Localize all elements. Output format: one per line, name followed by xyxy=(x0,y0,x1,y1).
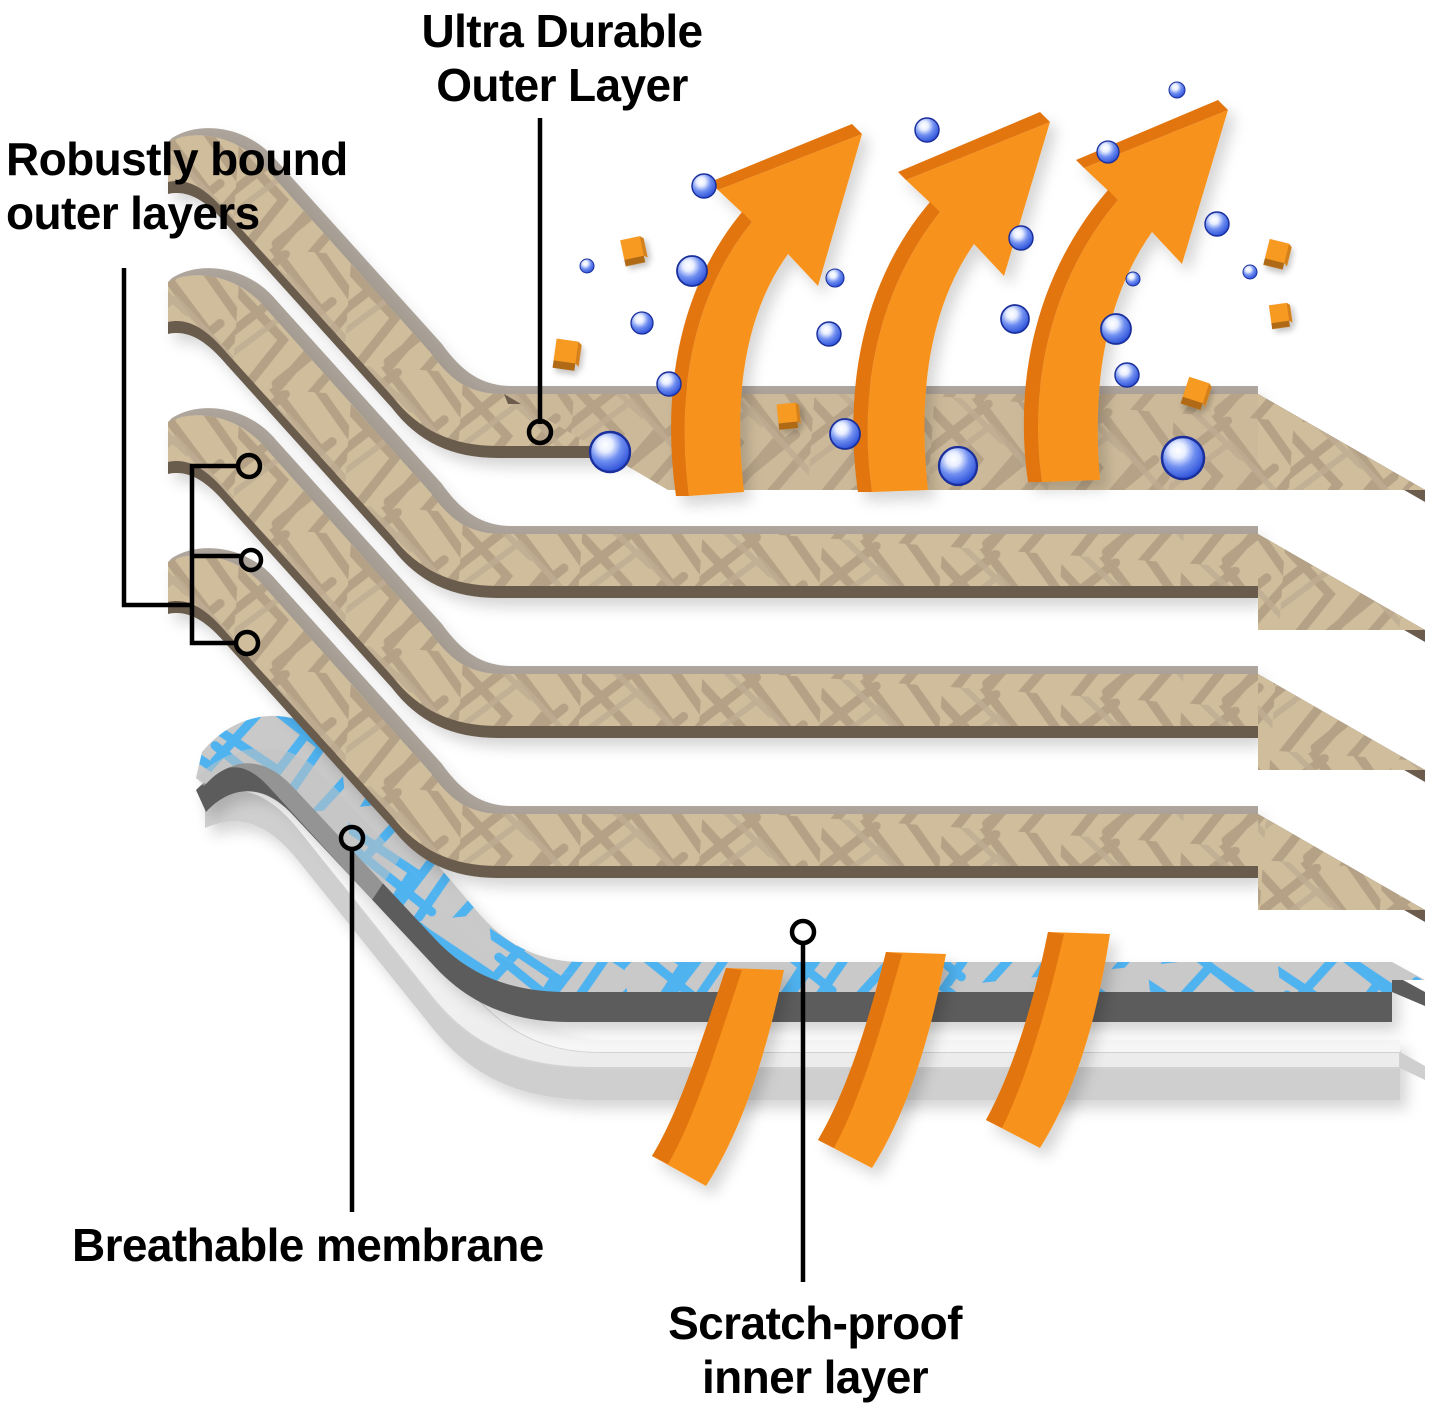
moisture-droplet xyxy=(1205,212,1229,236)
moisture-droplet xyxy=(590,432,630,472)
moisture-droplet xyxy=(1243,265,1257,279)
dirt-particle-cube xyxy=(1269,302,1293,329)
callout-label-scratch-proof: Scratch-proof inner layer xyxy=(600,1296,1030,1405)
moisture-droplet xyxy=(1001,305,1029,333)
moisture-droplet xyxy=(830,419,860,449)
moisture-droplet xyxy=(939,447,977,485)
moisture-droplet xyxy=(1126,272,1140,286)
moisture-droplet xyxy=(677,256,707,286)
dirt-particle-cube xyxy=(1263,239,1292,271)
moisture-droplet xyxy=(817,322,841,346)
moisture-droplet xyxy=(1169,82,1185,98)
moisture-droplet xyxy=(1097,141,1119,163)
moisture-droplet xyxy=(692,174,716,198)
moisture-droplet xyxy=(1162,437,1204,479)
moisture-droplet xyxy=(1101,314,1131,344)
moisture-droplet xyxy=(915,118,939,142)
moisture-droplet xyxy=(1009,226,1033,250)
callout-label-breathable-membrane: Breathable membrane xyxy=(72,1218,672,1272)
callout-label-robustly-bound: Robustly bound outer layers xyxy=(6,132,426,241)
dirt-particle-cube xyxy=(553,339,583,372)
moisture-droplet xyxy=(657,372,681,396)
dirt-particle-cube xyxy=(620,235,648,266)
moisture-droplet xyxy=(826,269,844,287)
moisture-droplet xyxy=(631,312,653,334)
moisture-droplet xyxy=(1115,363,1139,387)
diagram-canvas: Ultra Durable Outer Layer Robustly bound… xyxy=(0,0,1445,1410)
moisture-droplet xyxy=(580,259,594,273)
callout-label-outer-layer: Ultra Durable Outer Layer xyxy=(372,4,752,113)
dirt-particle-cube xyxy=(777,402,802,430)
